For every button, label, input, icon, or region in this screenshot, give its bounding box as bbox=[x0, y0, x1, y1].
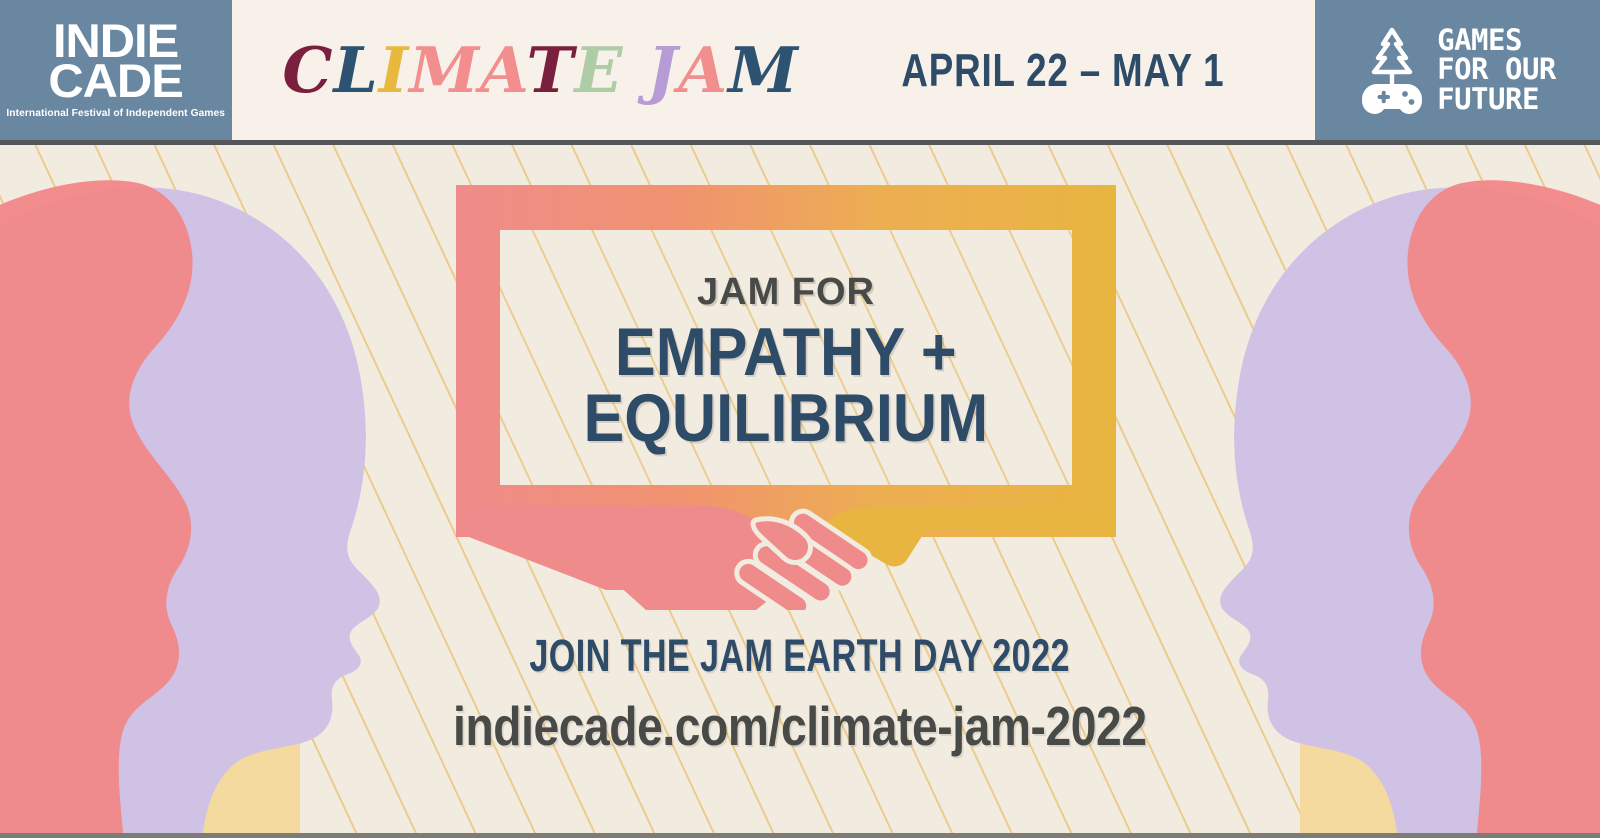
title-letter-a-8: A bbox=[678, 33, 728, 107]
tree-gamepad-icon bbox=[1359, 24, 1425, 116]
jam-url[interactable]: indiecade.com/climate-jam-2022 bbox=[453, 694, 1147, 758]
headline-line-2: EQUILIBRIUM bbox=[584, 386, 989, 452]
title-letter-i-2: I bbox=[379, 33, 409, 107]
climate-jam-poster: INDIE CADE International Festival of Ind… bbox=[0, 0, 1600, 838]
eyebrow-text: JAM FOR bbox=[697, 271, 875, 314]
headline-text: EMPATHY + EQUILIBRIUM bbox=[584, 320, 989, 452]
games-for-our-future-wordmark: GAMES FOR OUR FUTURE bbox=[1437, 26, 1556, 115]
header-underline bbox=[0, 140, 1600, 145]
title-letter-t-5: T bbox=[526, 33, 574, 107]
headline-line-1: EMPATHY + bbox=[584, 320, 989, 386]
header-center: CLIMATEJAM APRIL 22 – MAY 1 bbox=[232, 0, 1315, 140]
gff-line-3: FUTURE bbox=[1437, 85, 1556, 115]
gff-line-1: GAMES bbox=[1437, 26, 1556, 56]
title-letter-j-7: J bbox=[647, 33, 678, 107]
games-for-our-future-logo[interactable]: GAMES FOR OUR FUTURE bbox=[1315, 0, 1600, 140]
indiecade-line-2: CADE bbox=[49, 61, 183, 100]
title-letter-e-6: E bbox=[574, 33, 623, 107]
title-letter-a-4: A bbox=[480, 33, 526, 107]
bottom-border-rule bbox=[0, 833, 1600, 838]
title-letter-l-1: L bbox=[334, 33, 379, 107]
frame-text-block: JAM FOR EMPATHY + EQUILIBRIUM bbox=[500, 230, 1072, 485]
footer-copy: JOIN THE JAM EARTH DAY 2022 indiecade.co… bbox=[0, 630, 1600, 758]
handshake-icon bbox=[456, 470, 1116, 610]
frame-inner-panel: JAM FOR EMPATHY + EQUILIBRIUM bbox=[500, 230, 1072, 485]
indiecade-logo[interactable]: INDIE CADE International Festival of Ind… bbox=[0, 0, 232, 140]
indiecade-tagline: International Festival of Independent Ga… bbox=[7, 107, 226, 119]
join-the-jam-text: JOIN THE JAM EARTH DAY 2022 bbox=[530, 630, 1071, 682]
title-letter-c-0: C bbox=[282, 33, 333, 107]
gff-line-2: FOR OUR bbox=[1437, 55, 1556, 85]
climate-jam-title: CLIMATEJAM bbox=[282, 39, 799, 102]
header-bar: INDIE CADE International Festival of Ind… bbox=[0, 0, 1600, 140]
indiecade-wordmark: INDIE CADE bbox=[49, 21, 183, 100]
title-letter-m-3: M bbox=[409, 33, 480, 107]
title-letter-m-9: M bbox=[728, 33, 799, 107]
jam-dates: APRIL 22 – MAY 1 bbox=[901, 43, 1224, 97]
